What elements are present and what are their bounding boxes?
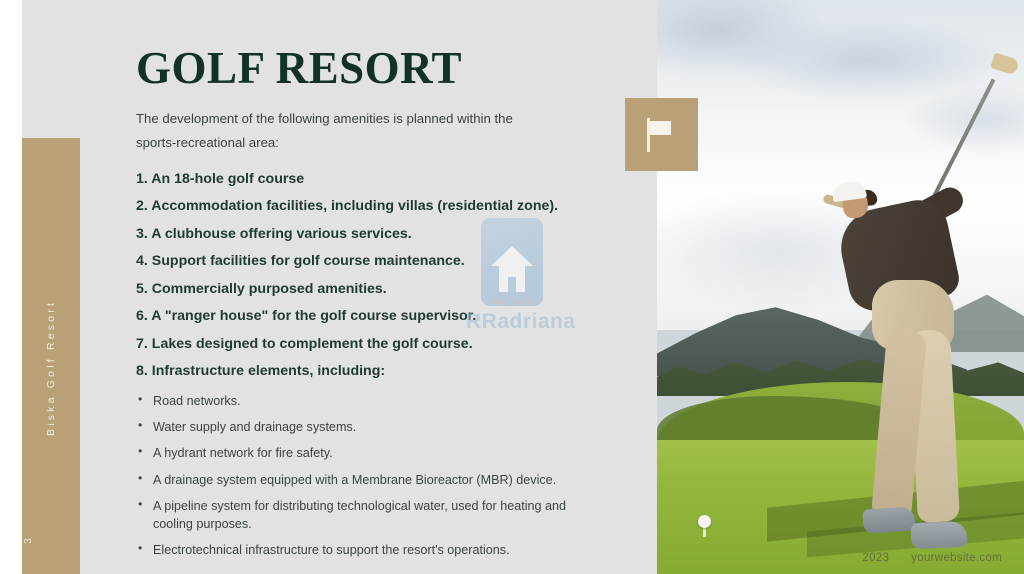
golf-tee [703,527,706,537]
flag-badge [625,98,698,171]
amenities-list: 1. An 18-hole golf course 2. Accommodati… [136,172,636,379]
list-item: 3. A clubhouse offering various services… [136,227,636,241]
golfer-back-shoe [911,521,968,549]
list-item: A pipeline system for distributing techn… [136,497,606,534]
content-block: GOLF RESORT The development of the follo… [136,46,636,568]
golf-photo: 2023yourwebsite.com [657,0,1024,574]
list-item: 2. Accommodation facilities, including v… [136,199,636,213]
footer-website: yourwebsite.com [911,552,1002,564]
list-item: 8. Infrastructure elements, including: [136,364,636,378]
intro-line-1: The development of the following ameniti… [136,111,491,126]
golf-flag-icon [647,118,677,152]
page-number: 3 [22,538,80,544]
list-item: 5. Commercially purposed amenities. [136,282,636,296]
list-item: 6. A "ranger house" for the golf course … [136,309,636,323]
list-item: A hydrant network for fire safety. [136,444,606,462]
list-item: 7. Lakes designed to complement the golf… [136,337,636,351]
slide-root: Biska Golf Resort 3 GOLF RESORT The deve… [0,0,1024,574]
list-item: 1. An 18-hole golf course [136,172,636,186]
sidebar-brand-label: Biska Golf Resort [22,218,80,518]
infrastructure-list: Road networks. Water supply and drainage… [136,392,636,560]
list-item: A drainage system equipped with a Membra… [136,471,606,489]
footer-year: 2023 [862,552,889,564]
list-item: 4. Support facilities for golf course ma… [136,254,636,268]
golf-ball [698,515,711,528]
list-item: Water supply and drainage systems. [136,418,606,436]
intro-paragraph: The development of the following ameniti… [136,107,536,156]
list-item: Road networks. [136,392,606,410]
list-item: Electrotechnical infrastructure to suppo… [136,541,606,559]
page-title: GOLF RESORT [136,46,636,91]
sky-layer [657,0,1024,330]
brand-sidebar: Biska Golf Resort 3 [22,138,80,574]
golfer-front-shoe [862,506,916,534]
photo-footer: 2023yourwebsite.com [862,552,1002,564]
